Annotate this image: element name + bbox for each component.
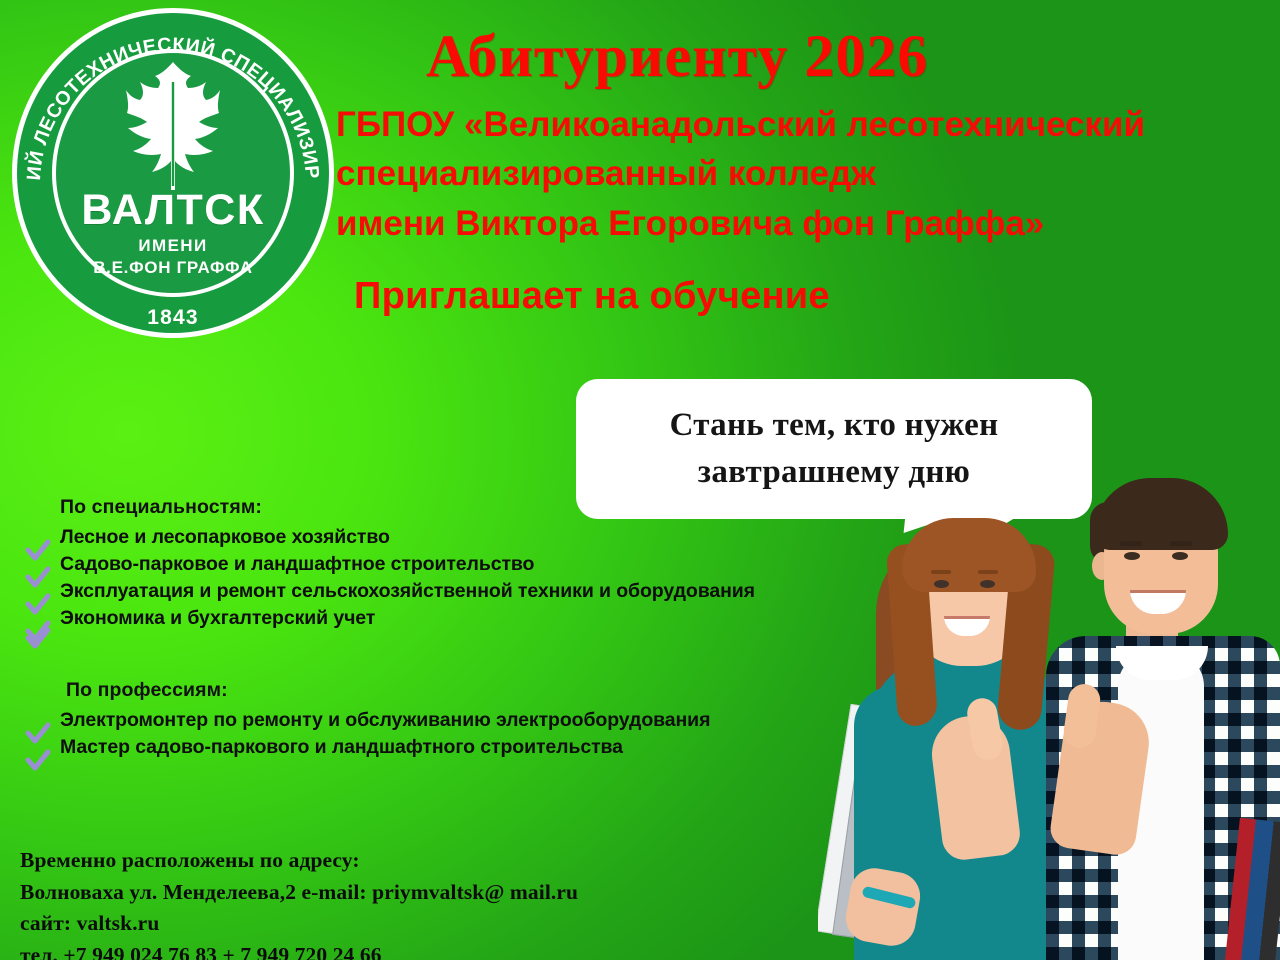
logo-name: ВАЛТСК: [12, 189, 334, 232]
girl-hair-front: [902, 518, 1036, 592]
college-logo: ВЕЛИКОАНАДОЛЬСКИЙ ЛЕСОТЕХНИЧЕСКИЙ СПЕЦИА…: [12, 8, 334, 338]
boy-eye-right: [1172, 552, 1188, 560]
list-item: Мастер садово-паркового и ландшафтного с…: [22, 734, 922, 761]
girl-eye-left: [934, 580, 949, 588]
girl-eye-right: [980, 580, 995, 588]
list-item: Электромонтер по ремонту и обслуживанию …: [22, 707, 922, 734]
programs-lists: По специальностям: Лесное и лесопарковое…: [22, 496, 922, 761]
address-label: Временно расположены по адресу:: [20, 845, 780, 877]
specialties-heading: По специальностям:: [60, 496, 922, 519]
girl-brow-left: [931, 570, 951, 574]
trailing-checkmark-row: [22, 632, 922, 654]
list-item: Лесное и лесопарковое хозяйство: [22, 524, 922, 551]
phone-line: тел. +7 949 024 76 83 + 7 949 720 24 66: [20, 940, 780, 960]
contacts-block: Временно расположены по адресу: Волновах…: [20, 845, 780, 960]
organization-name: ГБПОУ «Великоанадольский лесотехнический…: [336, 100, 1266, 249]
list-item: Экономика и бухгалтерский учет: [22, 605, 922, 632]
profession-label: Электромонтер по ремонту и обслуживанию …: [60, 709, 710, 732]
students-photo: [818, 440, 1280, 960]
boy-brow-left: [1120, 541, 1142, 546]
logo-sub-imeni: ИМЕНИ: [12, 236, 334, 256]
oak-leaf-icon: [125, 60, 221, 192]
boy-brow-right: [1170, 541, 1192, 546]
specialty-label: Лесное и лесопарковое хозяйство: [60, 526, 390, 549]
boy-eye-left: [1124, 552, 1140, 560]
checkmark-icon: [25, 626, 51, 652]
website-line: сайт: valtsk.ru: [20, 908, 780, 940]
page-title: Абитуриенту 2026: [426, 26, 1266, 88]
specialty-label: Эксплуатация и ремонт сельскохозяйственн…: [60, 580, 755, 603]
org-line-1: ГБПОУ «Великоанадольский лесотехнический: [336, 100, 1266, 150]
checkmark-icon: [25, 748, 51, 774]
org-line-3: имени Виктора Егоровича фон Граффа»: [336, 199, 1266, 249]
boy-hair: [1094, 478, 1228, 550]
logo-sub-graff: В.Е.ФОН ГРАФФА: [12, 258, 334, 278]
girl-brow-right: [978, 570, 998, 574]
invitation-text: Приглашает на обучение: [354, 275, 1266, 318]
specialty-label: Садово-парковое и ландшафтное строительс…: [60, 553, 534, 576]
address-and-email: Волноваха ул. Менделеева,2 e-mail: priym…: [20, 877, 780, 909]
profession-label: Мастер садово-паркового и ландшафтного с…: [60, 736, 623, 759]
list-item: Садово-парковое и ландшафтное строительс…: [22, 551, 922, 578]
poster-canvas: ВЕЛИКОАНАДОЛЬСКИЙ ЛЕСОТЕХНИЧЕСКИЙ СПЕЦИА…: [0, 0, 1280, 960]
professions-heading: По профессиям:: [66, 679, 922, 702]
specialty-label: Экономика и бухгалтерский учет: [60, 607, 375, 630]
headline-block: Абитуриенту 2026 ГБПОУ «Великоанадольски…: [336, 26, 1266, 318]
org-line-2: специализированный колледж: [336, 149, 1266, 199]
logo-year: 1843: [12, 306, 334, 330]
list-item: Эксплуатация и ремонт сельскохозяйственн…: [22, 578, 922, 605]
